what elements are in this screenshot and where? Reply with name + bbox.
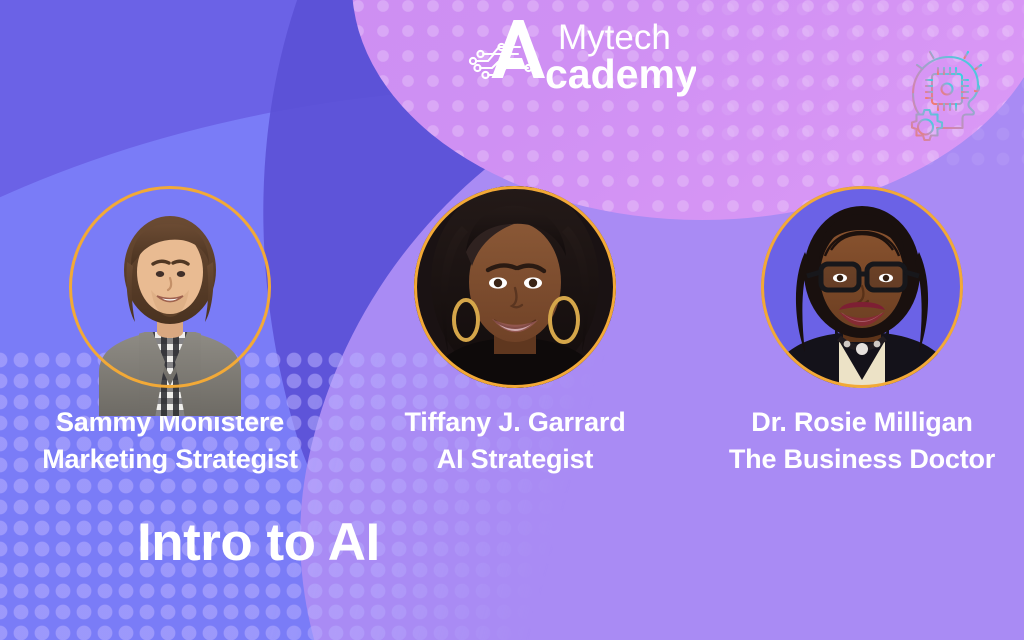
promo-slide: Mytech cademy <box>0 0 1024 640</box>
speaker-card-dr-rosie-milligan: Dr. Rosie Milligan The Business Doctor <box>692 186 1024 479</box>
avatar-tiffany-j-garrard <box>414 186 616 388</box>
speaker-role: The Business Doctor <box>692 441 1024 478</box>
logo-text-academy: cademy <box>545 51 696 97</box>
avatar-photo <box>69 186 271 388</box>
avatar-photo <box>414 186 616 388</box>
speaker-name: Dr. Rosie Milligan <box>692 404 1024 441</box>
page-title: Intro to AI <box>137 512 380 573</box>
avatar-photo <box>761 186 963 388</box>
speaker-role: AI Strategist <box>345 441 685 478</box>
speaker-role: Marketing Strategist <box>0 441 340 478</box>
avatar-dr-rosie-milligan <box>761 186 963 388</box>
ai-head-chip-gear-icon <box>892 42 990 147</box>
speaker-list: Sammy Monistere Marketing Strategist <box>0 186 1024 486</box>
speaker-card-sammy-monistere: Sammy Monistere Marketing Strategist <box>0 186 340 479</box>
speaker-name: Tiffany J. Garrard <box>345 404 685 441</box>
avatar-sammy-monistere <box>69 186 271 388</box>
speaker-card-tiffany-j-garrard: Tiffany J. Garrard AI Strategist <box>345 186 685 479</box>
mytech-academy-logo: Mytech cademy <box>466 16 696 98</box>
